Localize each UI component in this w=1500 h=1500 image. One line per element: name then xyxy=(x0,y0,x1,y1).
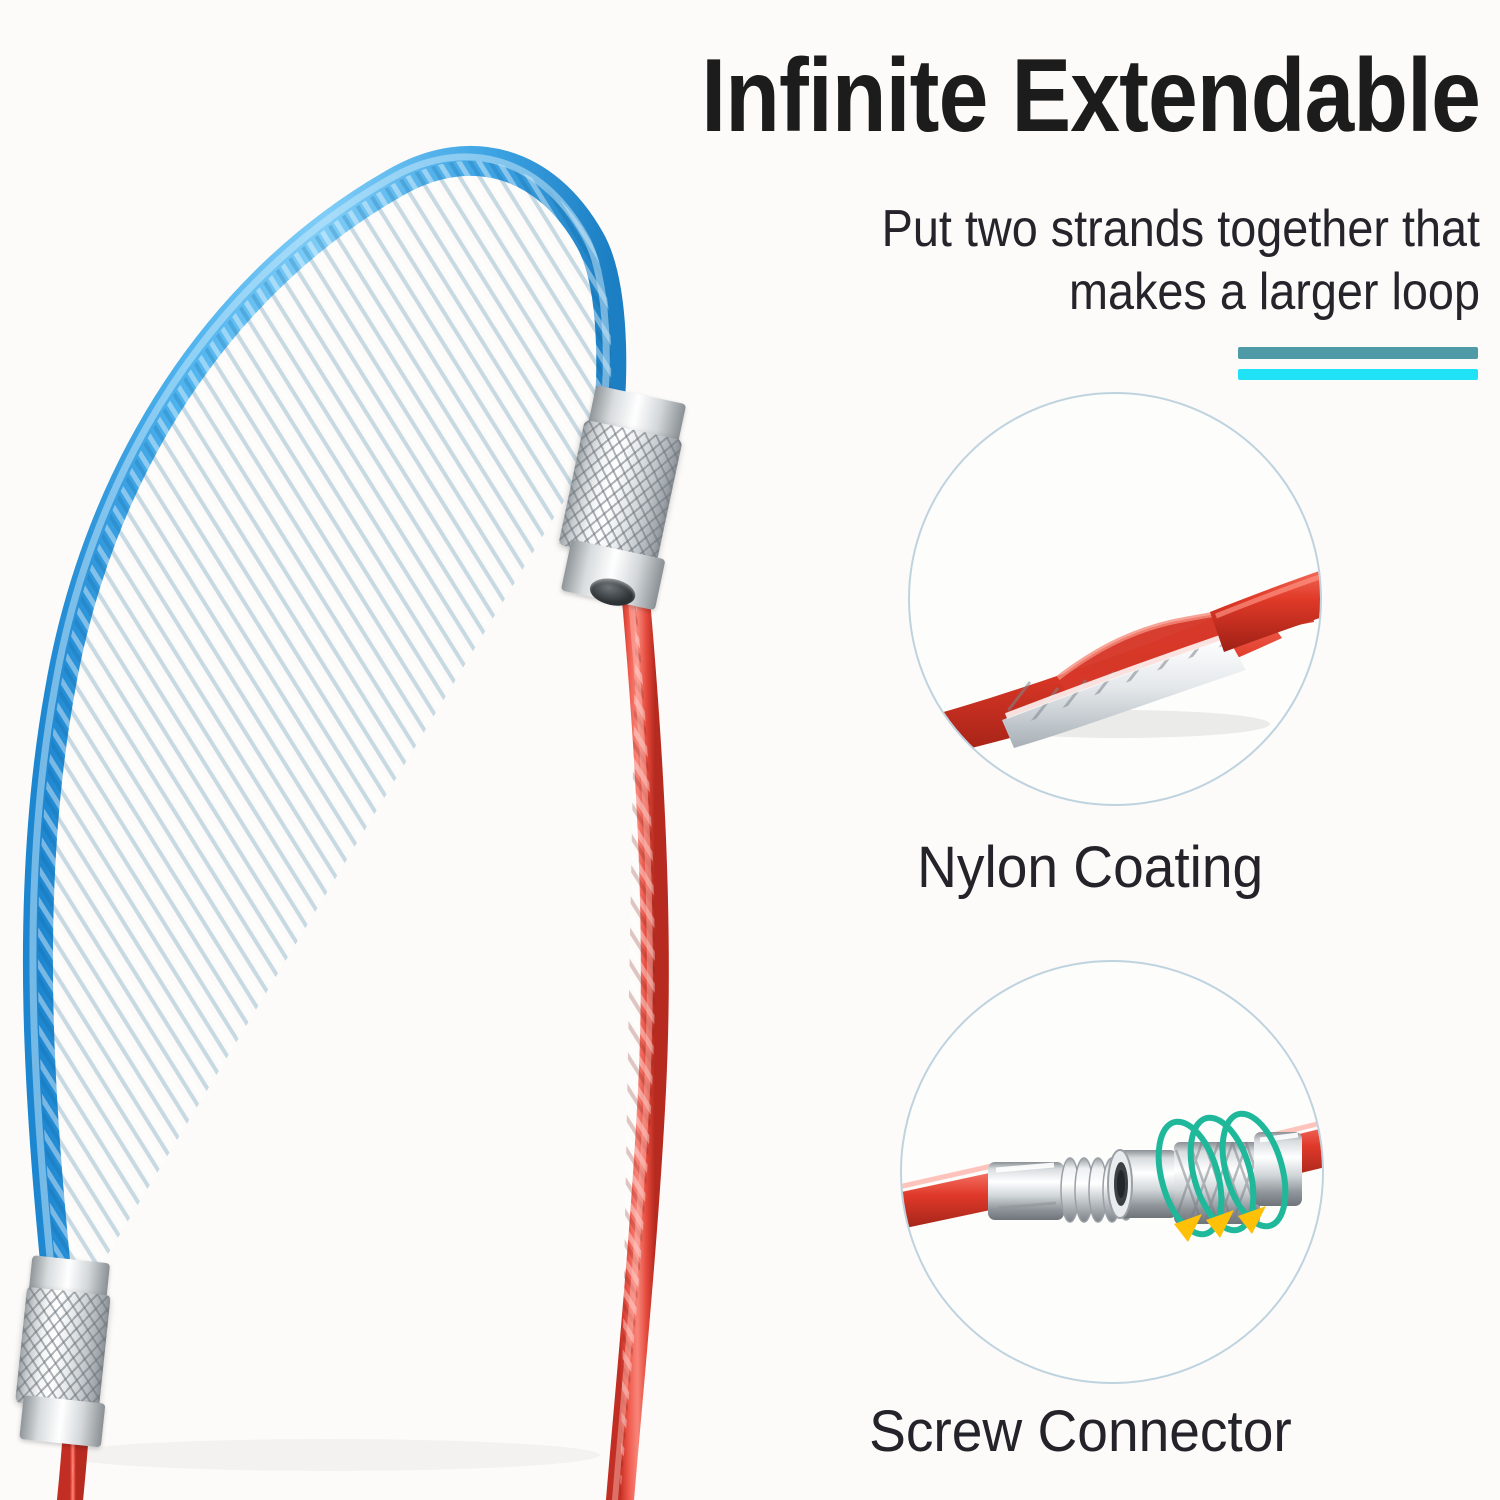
screw-connector-art xyxy=(902,962,1322,1382)
accent-rules xyxy=(1238,347,1478,380)
red-cable xyxy=(580,580,720,1500)
nylon-coating-art xyxy=(910,394,1320,804)
subtitle-line-1: Put two strands together that xyxy=(688,198,1480,261)
screw-male-assembly xyxy=(902,1158,1135,1230)
subtitle-line-2: makes a larger loop xyxy=(688,261,1480,324)
feature-caption-screw-connector: Screw Connector xyxy=(869,1398,1292,1465)
accent-rule-top xyxy=(1238,347,1478,359)
feature-circle-screw-connector xyxy=(900,960,1324,1384)
barrel-right-collar xyxy=(1254,1132,1302,1206)
knurl-texture-2 xyxy=(15,1287,111,1411)
feature-caption-nylon-coating: Nylon Coating xyxy=(917,834,1263,901)
blue-cable xyxy=(0,100,700,1400)
product-marketing-canvas: Infinite Extendable Put two strands toge… xyxy=(0,0,1500,1500)
accent-rule-bottom xyxy=(1238,369,1478,380)
page-title: Infinite Extendable xyxy=(547,42,1480,151)
connector2-collar-bottom xyxy=(19,1395,105,1447)
connector-barrel-secondary xyxy=(0,1252,148,1464)
page-subtitle: Put two strands together that makes a la… xyxy=(688,198,1480,325)
connector2-knurled-body xyxy=(15,1287,111,1411)
feature-circle-nylon-coating xyxy=(908,392,1322,806)
